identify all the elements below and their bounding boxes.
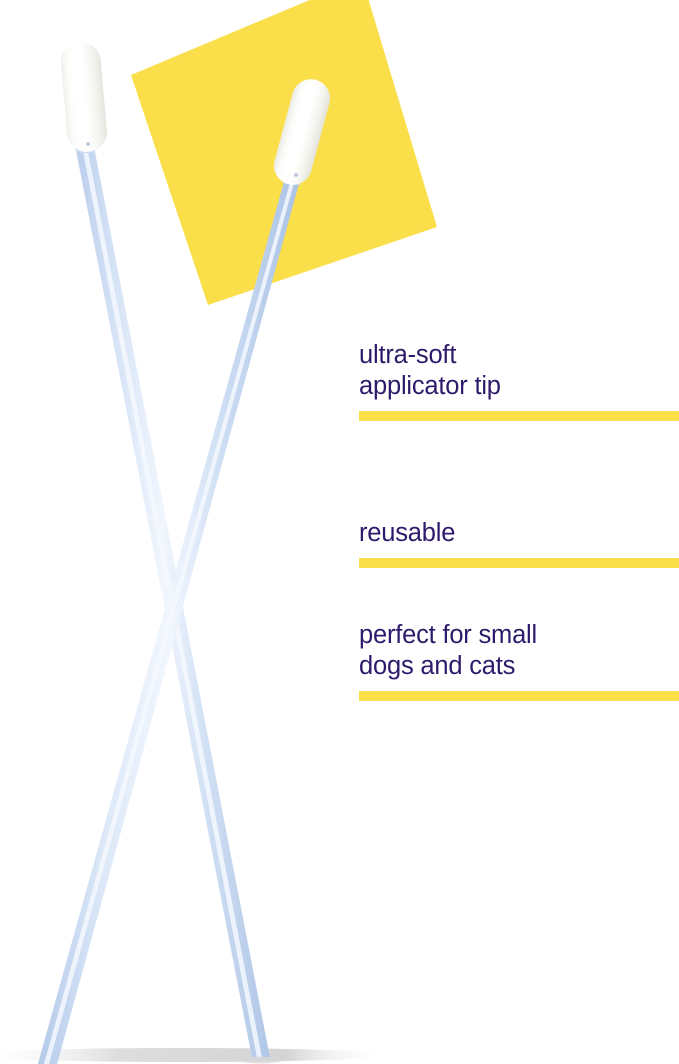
feature-underline-bar xyxy=(359,691,679,701)
feature-item-reusable: reusable xyxy=(359,518,679,568)
feature-label: reusable xyxy=(359,518,679,549)
swab-left-contact-shadow xyxy=(239,1057,283,1064)
product-feature-graphic: ultra-soft applicator tip reusable perfe… xyxy=(0,0,679,1064)
feature-item-ultra-soft-applicator-tip: ultra-soft applicator tip xyxy=(359,340,679,421)
feature-item-perfect-for-small-dogs-and-cats: perfect for small dogs and cats xyxy=(359,620,679,701)
feature-label: ultra-soft applicator tip xyxy=(359,340,679,402)
feature-underline-bar xyxy=(359,558,679,568)
feature-underline-bar xyxy=(359,411,679,421)
swab-left-tip-notch xyxy=(86,142,90,146)
feature-label: perfect for small dogs and cats xyxy=(359,620,679,682)
swab-right-tip-notch xyxy=(294,173,298,177)
